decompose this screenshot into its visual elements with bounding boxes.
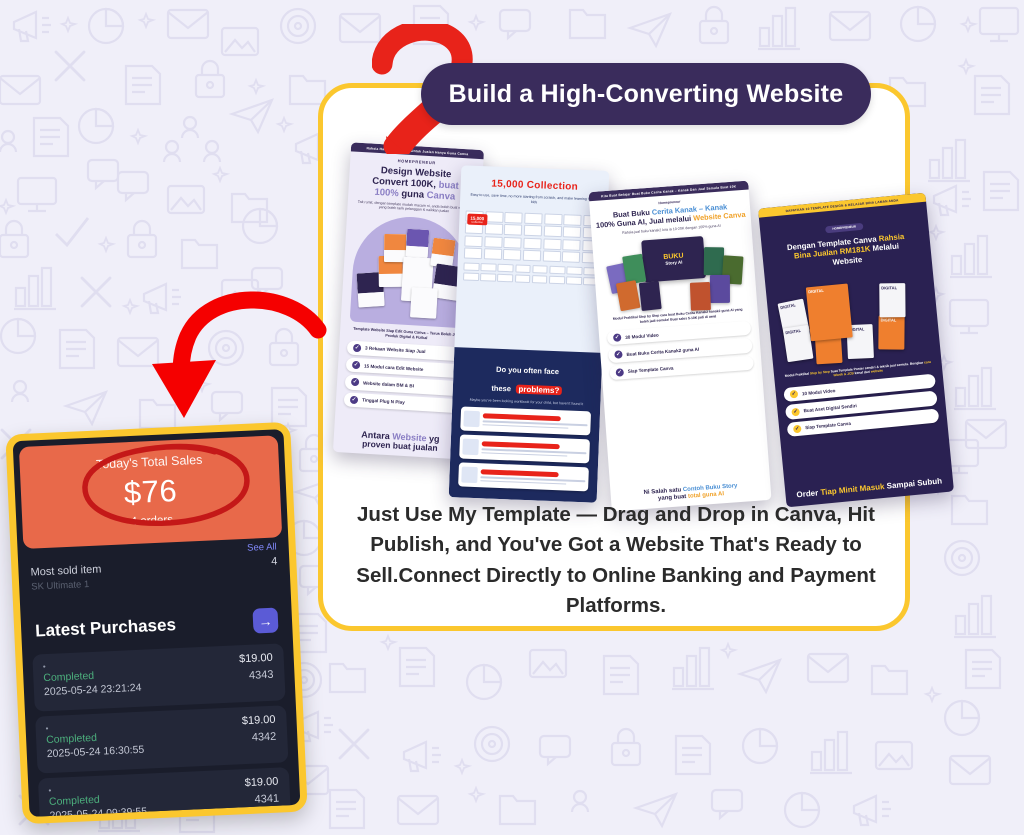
purchase-order-id: 4343 — [249, 669, 274, 682]
step-title-text: Build a High-Converting Website — [449, 80, 844, 109]
mockup1-headline-3: 100% — [374, 187, 399, 199]
purchase-amount: $19.00 — [242, 714, 276, 728]
mockup2-title-1: Do you often face — [496, 365, 559, 376]
mockup2-problem-2 — [459, 435, 590, 464]
purchase-order-id: 4341 — [254, 793, 279, 806]
check-icon: ✓ — [613, 333, 622, 342]
check-icon: ✓ — [351, 378, 359, 386]
see-all-link[interactable]: See All — [247, 541, 277, 553]
check-icon: ✓ — [352, 361, 360, 369]
mockup3-book-collage: BUKU Story AI — [592, 233, 757, 315]
mockup4-subtext-5: kenal dari — [854, 370, 870, 375]
product-mockup-storybook-ai: Kita Buat Belajar Buat Buku Cerita Kanak… — [588, 181, 771, 512]
product-mockup-kids-collection: 15,000 Collection Easy to use, save time… — [449, 165, 610, 502]
mockup2-subtext: Easy to use, save time, no more starting… — [460, 192, 608, 207]
purchase-order-id: 4342 — [252, 731, 277, 744]
most-sold-count: 4 — [271, 555, 278, 567]
red-curved-arrow-annotation — [140, 290, 330, 440]
mockup2-problem-1 — [460, 407, 591, 436]
mockup1-footer-4: proven buat jualan — [333, 438, 466, 456]
step-caption: Just Use My Template — Drag and Drop in … — [352, 500, 880, 621]
mockup4-brand: HOMEPRENEUR — [825, 222, 863, 233]
mockup2-count-badge-sub: Collection — [470, 220, 484, 224]
mockup2-problem-3 — [458, 463, 589, 492]
product-mockup-canva-template: DAPATKAN 10 TEMPLATE DESIGN & BELAJAR BI… — [758, 193, 954, 508]
mockup2-title-3: problems? — [515, 385, 562, 396]
step-title-banner: Build a High-Converting Website — [421, 63, 871, 125]
mockup1-product-collage — [350, 214, 471, 329]
check-icon: ✓ — [790, 390, 799, 399]
check-icon: ✓ — [614, 351, 623, 360]
table-row[interactable]: • Completed 2025-05-24 23:21:24 $19.00 4… — [32, 643, 285, 711]
mockup3-footer-4: total guna AI — [688, 491, 724, 500]
mockup4-footer-2: Tiap Minit Masuk — [820, 482, 885, 497]
mockup2-title-2: these — [491, 384, 511, 394]
mockup1-bullet-4: ✓ Tinggal Plug N Play — [344, 392, 462, 413]
check-icon: ✓ — [350, 396, 358, 404]
mockup1-headline-3c: Canva — [426, 190, 455, 203]
purchase-amount: $19.00 — [239, 652, 273, 666]
red-highlight-ellipse-annotation — [74, 436, 258, 534]
most-sold-label: Most sold item — [30, 563, 101, 578]
check-icon: ✓ — [615, 368, 624, 377]
table-row[interactable]: • Completed 2025-05-24 16:30:55 $19.00 4… — [35, 705, 288, 773]
mockup2-badge: 15,000 Collection — [461, 177, 609, 194]
mockup3-tablet-label-2: Story AI — [665, 260, 682, 266]
arrow-right-icon[interactable]: → — [252, 607, 278, 633]
purchase-amount: $19.00 — [244, 776, 278, 790]
latest-purchases-title: Latest Purchases — [35, 615, 177, 641]
mockup4-footer-1: Order — [796, 489, 819, 500]
mockup1-headline-3b: guna — [401, 189, 424, 201]
check-icon: ✓ — [353, 344, 361, 352]
mockup4-digital-collage: DIGITAL DIGITAL DIGITAL DIGITAL DIGITAL … — [765, 263, 941, 375]
check-icon: ✓ — [791, 407, 800, 416]
mockup4-subtext-6: website — [871, 369, 883, 374]
mockup4-footer-3: Sampai Subuh — [886, 477, 942, 491]
illustration-icon — [461, 467, 478, 484]
check-icon: ✓ — [793, 425, 802, 434]
mockup2-problems-section: Do you often face these problems? Maybe … — [449, 347, 603, 503]
illustration-icon — [462, 439, 479, 456]
tablet-device: BUKU Story AI — [641, 236, 706, 282]
illustration-icon — [463, 411, 480, 428]
mockup1-headline-2b: buat — [438, 180, 459, 192]
